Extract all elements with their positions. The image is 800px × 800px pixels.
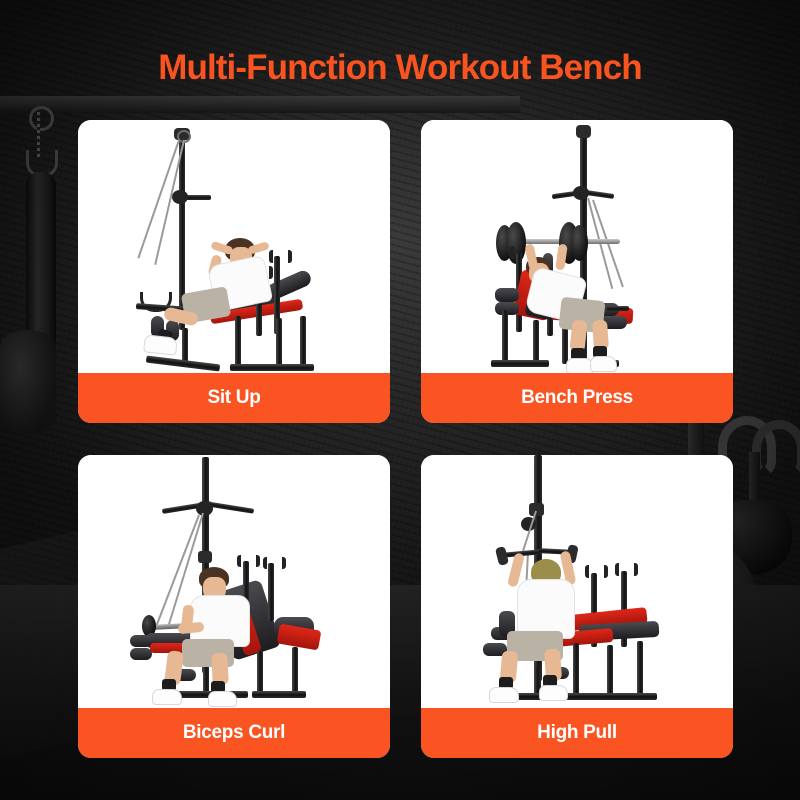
bench-leg-mid — [533, 320, 539, 364]
bench-leg-rear-outer — [292, 647, 298, 695]
barbell-j-hook-left — [237, 555, 260, 567]
lat-bar-right — [206, 501, 254, 513]
barbell-j-hook-left — [585, 565, 608, 578]
athlete-shoe-right — [590, 356, 617, 372]
bench-leg-rear-outer — [300, 316, 306, 368]
lat-bar-hub — [196, 501, 213, 516]
base-foot-rear — [561, 693, 657, 700]
bench-leg-mid — [607, 645, 613, 697]
leg-extension-pad-red — [277, 624, 322, 651]
rack-post-right — [268, 563, 274, 621]
exercise-photo-sit-up — [78, 120, 390, 373]
lat-bar-grip-left — [495, 546, 509, 566]
barbell-j-hook-right — [615, 563, 638, 576]
card-label-biceps-curl: Biceps Curl — [78, 708, 390, 758]
bench-leg-front — [573, 643, 579, 697]
base-foot-left — [491, 360, 549, 367]
athlete-shoe-left — [489, 687, 519, 703]
feature-card-grid: Sit Up — [78, 120, 733, 758]
athlete-shoe-left — [152, 689, 182, 705]
arm-pad-left — [495, 288, 519, 302]
feature-card-sit-up[interactable]: Sit Up — [78, 120, 390, 423]
feature-card-high-pull[interactable]: High Pull — [421, 455, 733, 758]
bench-leg-middle — [235, 316, 241, 368]
bench-leg-rear — [637, 641, 643, 697]
leg-roller-arm — [607, 306, 629, 311]
card-label-sit-up: Sit Up — [78, 373, 390, 423]
athlete-arm-right — [555, 244, 568, 271]
barbell-j-hook-right — [269, 250, 292, 263]
exercise-photo-high-pull — [421, 455, 733, 708]
weight-plate-right-outer — [571, 225, 588, 261]
feature-card-bench-press[interactable]: Bench Press — [421, 120, 733, 423]
athlete-shoe-right — [208, 691, 237, 707]
arm-pad-left — [130, 635, 152, 647]
tower-mid-bracket — [198, 551, 212, 563]
tower-base-post — [182, 328, 188, 364]
feature-card-biceps-curl[interactable]: Biceps Curl — [78, 455, 390, 758]
base-foot-rear — [252, 691, 306, 698]
card-label-high-pull: High Pull — [421, 708, 733, 758]
tower-top-pulley — [576, 125, 591, 138]
arm-pad-left-lower — [130, 648, 152, 660]
bench-leg-rear — [257, 651, 263, 695]
tower-adjust-knob — [172, 190, 188, 204]
tower-bracket-upper — [529, 503, 544, 516]
card-label-bench-press: Bench Press — [421, 373, 733, 423]
exercise-photo-biceps-curl — [78, 455, 390, 708]
infographic-page: Multi-Function Workout Bench — [0, 0, 800, 800]
exercise-photo-bench-press — [421, 120, 733, 373]
athlete-shoe — [143, 334, 178, 355]
page-title: Multi-Function Workout Bench — [0, 48, 800, 88]
tower-arm-right — [586, 190, 614, 199]
bench-leg-rear — [276, 318, 282, 368]
athlete-shoe-right — [539, 685, 568, 701]
front-leg-left — [502, 310, 508, 362]
bench-base-foot — [230, 364, 314, 371]
athlete-torso-shirt — [517, 579, 575, 639]
barbell-j-hook-right — [263, 557, 286, 569]
